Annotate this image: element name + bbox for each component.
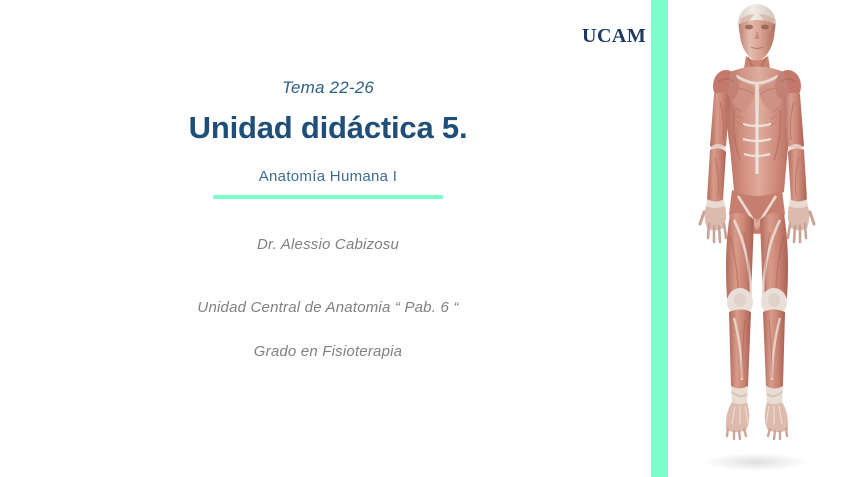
accent-bar	[651, 0, 668, 477]
course-name-label: Anatomía Humana I	[0, 168, 656, 186]
human-muscular-system-icon	[668, 0, 848, 477]
presentation-slide: UCAM Tema 22-26 Unidad didáctica 5. Anat…	[0, 0, 848, 477]
credits-block: Dr. Alessio Cabizosu Unidad Central de A…	[0, 236, 656, 361]
title-underline-rule	[213, 195, 443, 199]
degree-label: Grado en Fisioterapia	[0, 343, 656, 361]
facility-label: Unidad Central de Anatomia “ Pab. 6 “	[0, 299, 656, 317]
anatomy-figure-panel	[668, 0, 848, 477]
author-name-label: Dr. Alessio Cabizosu	[0, 236, 656, 254]
topic-range-label: Tema 22-26	[0, 78, 656, 98]
page-title: Unidad didáctica 5.	[0, 110, 656, 146]
ucam-logo: UCAM	[582, 26, 644, 46]
title-block: Tema 22-26 Unidad didáctica 5. Anatomía …	[0, 78, 656, 199]
